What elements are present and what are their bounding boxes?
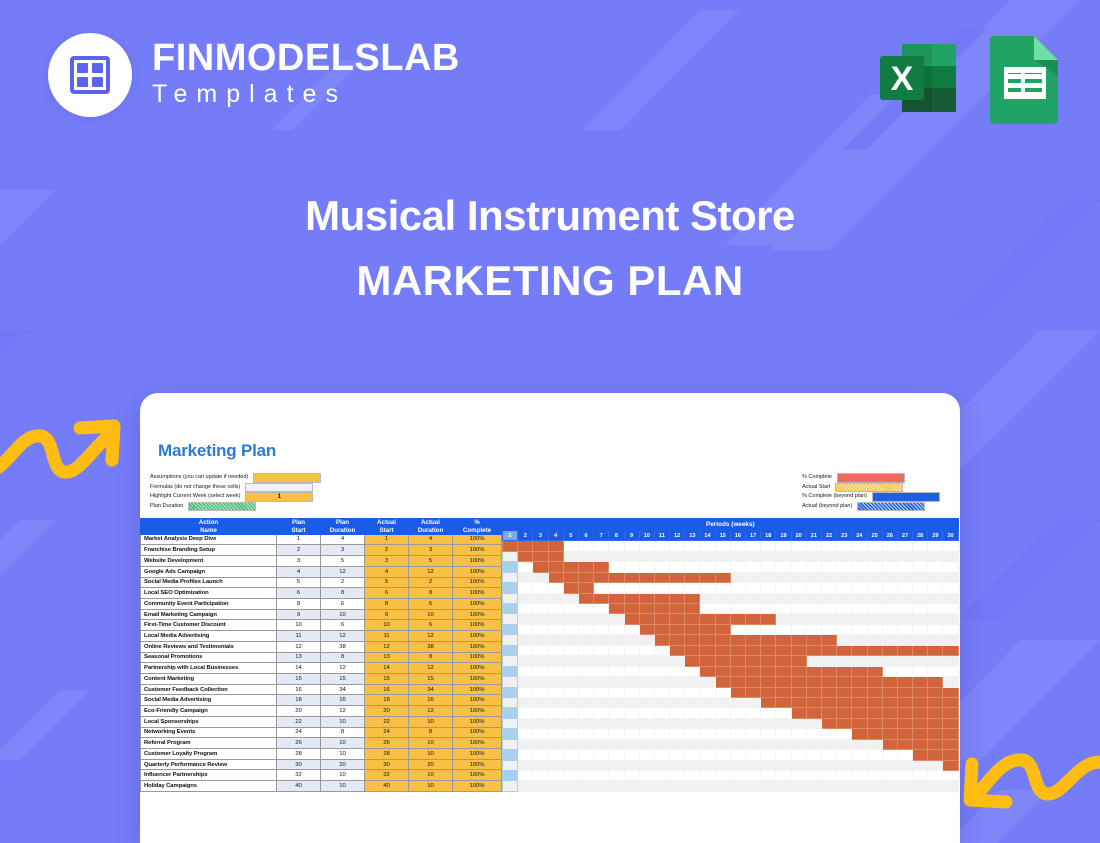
gantt-empty-cell [715,697,730,707]
gantt-row [503,551,959,561]
gantt-bar-segment [609,604,624,614]
table-row[interactable]: Local Sponsorships22102210100% [141,716,502,727]
cell-pct-complete[interactable]: 100% [453,770,502,781]
gantt-empty-cell [928,572,943,582]
cell-name[interactable]: Franchise Branding Setup [141,545,277,556]
week-header-9[interactable]: 9 [624,531,639,541]
cell-actual-start[interactable]: 10 [365,620,409,631]
cell-plan-duration[interactable]: 8 [321,727,365,738]
cell-plan-duration[interactable]: 10 [321,716,365,727]
week-header-21[interactable]: 21 [806,531,821,541]
gantt-empty-cell [654,771,669,781]
cell-name[interactable]: Community Event Participation [141,598,277,609]
cell-plan-duration[interactable]: 4 [321,534,365,545]
cell-actual-duration[interactable]: 10 [409,716,453,727]
cell-actual-start[interactable]: 22 [365,716,409,727]
cell-name[interactable]: Local Sponsorships [141,716,277,727]
cell-actual-duration[interactable]: 3 [409,545,453,556]
cell-plan-duration[interactable]: 12 [321,631,365,642]
gantt-empty-cell [578,750,593,760]
cell-actual-duration[interactable]: 5 [409,556,453,567]
cell-name[interactable]: Email Marketing Campaign [141,609,277,620]
cell-plan-start[interactable]: 26 [277,738,321,749]
gantt-empty-cell [578,541,593,551]
table-row[interactable]: Partnership with Local Businesses1412141… [141,663,502,674]
cell-actual-duration[interactable]: 6 [409,598,453,609]
cell-name[interactable]: Local SEO Optimization [141,588,277,599]
cell-pct-complete[interactable]: 100% [453,641,502,652]
cell-actual-start[interactable]: 18 [365,695,409,706]
cell-actual-duration[interactable]: 10 [409,609,453,620]
gantt-empty-cell [715,551,730,561]
cell-plan-duration[interactable]: 8 [321,652,365,663]
cell-pct-complete[interactable]: 100% [453,695,502,706]
gantt-empty-cell [837,750,852,760]
week-header-4[interactable]: 4 [548,531,563,541]
cell-plan-duration[interactable]: 15 [321,673,365,684]
cell-name[interactable]: Eco-Friendly Campaign [141,706,277,717]
cell-actual-start[interactable]: 1 [365,534,409,545]
week-header-22[interactable]: 22 [821,531,836,541]
week-header-15[interactable]: 15 [715,531,730,541]
gantt-empty-cell [928,562,943,572]
gantt-empty-cell [882,541,897,551]
gantt-empty-cell [578,687,593,697]
table-row[interactable]: Email Marketing Campaign910910100% [141,609,502,620]
cell-plan-duration[interactable]: 10 [321,770,365,781]
cell-actual-start[interactable]: 24 [365,727,409,738]
cell-pct-complete[interactable]: 100% [453,620,502,631]
cell-actual-duration[interactable]: 12 [409,663,453,674]
week-header-25[interactable]: 25 [867,531,882,541]
cell-plan-duration[interactable]: 10 [321,738,365,749]
gantt-empty-cell [639,739,654,749]
week-header-30[interactable]: 30 [943,531,958,541]
gantt-empty-cell [594,729,609,739]
cell-pct-complete[interactable]: 100% [453,673,502,684]
table-row[interactable]: Influencer Partnerships32103210100% [141,770,502,781]
cell-plan-start[interactable]: 10 [277,620,321,631]
cell-pct-complete[interactable]: 100% [453,706,502,717]
cell-plan-duration[interactable]: 6 [321,620,365,631]
gantt-empty-cell [837,771,852,781]
cell-actual-duration[interactable]: 4 [409,534,453,545]
gantt-empty-cell [639,729,654,739]
legend-column-right: % CompleteActual Start% Complete (beyond… [802,473,940,511]
gantt-bar-segment [882,687,897,697]
gantt-empty-cell [867,572,882,582]
cell-name[interactable]: Customer Loyalty Program [141,749,277,760]
cell-name[interactable]: Content Marketing [141,673,277,684]
cell-name[interactable]: Networking Events [141,727,277,738]
gantt-empty-cell [791,604,806,614]
gantt-bar-segment [913,750,928,760]
cell-actual-duration[interactable]: 10 [409,770,453,781]
cell-plan-duration[interactable]: 20 [321,759,365,770]
gantt-empty-cell [897,562,912,572]
gantt-empty-cell [715,750,730,760]
cell-plan-duration[interactable]: 34 [321,684,365,695]
gantt-row [503,739,959,749]
cell-pct-complete[interactable]: 100% [453,588,502,599]
week-header-10[interactable]: 10 [639,531,654,541]
table-row[interactable]: Website Development3535100% [141,556,502,567]
gantt-bar-segment [670,645,685,655]
cell-plan-start[interactable]: 18 [277,695,321,706]
gantt-empty-cell [563,645,578,655]
week-header-18[interactable]: 18 [761,531,776,541]
cell-pct-complete[interactable]: 100% [453,781,502,792]
cell-actual-start[interactable]: 8 [365,598,409,609]
gantt-bar-segment [746,614,761,624]
cell-plan-start[interactable]: 9 [277,609,321,620]
gantt-empty-cell [518,677,533,687]
gantt-empty-cell [503,593,518,603]
gantt-empty-cell [624,708,639,718]
gantt-empty-cell [533,750,548,760]
cell-name[interactable]: First-Time Customer Discount [141,620,277,631]
gantt-bar-segment [852,677,867,687]
cell-name[interactable]: Social Media Profiles Launch [141,577,277,588]
cell-actual-duration[interactable]: 15 [409,673,453,684]
gantt-empty-cell [685,551,700,561]
cell-plan-duration[interactable]: 3 [321,545,365,556]
gantt-empty-cell [594,666,609,676]
gantt-empty-cell [654,739,669,749]
gantt-empty-cell [563,593,578,603]
gantt-empty-cell [867,593,882,603]
week-header-6[interactable]: 6 [578,531,593,541]
cell-name[interactable]: Market Analysis Deep Dive [141,534,277,545]
table-row[interactable]: Market Analysis Deep Dive1414100% [141,534,502,545]
legend-column-left: Assumptions (you can update if needed)Fo… [150,473,321,511]
cell-name[interactable]: Website Development [141,556,277,567]
cell-actual-duration[interactable]: 20 [409,759,453,770]
week-header-3[interactable]: 3 [533,531,548,541]
cell-plan-start[interactable]: 20 [277,706,321,717]
cell-plan-start[interactable]: 14 [277,663,321,674]
legend-item: Assumptions (you can update if needed) [150,473,321,483]
gantt-empty-cell [730,750,745,760]
gantt-bar-segment [776,677,791,687]
gantt-empty-cell [821,583,836,593]
cell-pct-complete[interactable]: 100% [453,652,502,663]
week-header-24[interactable]: 24 [852,531,867,541]
legend-item-value[interactable]: 1 [246,493,312,501]
gantt-empty-cell [624,729,639,739]
gantt-empty-cell [503,750,518,760]
gantt-empty-cell [670,687,685,697]
cell-plan-start[interactable]: 22 [277,716,321,727]
column-header[interactable]: ActualDuration [409,519,453,534]
gantt-empty-cell [533,771,548,781]
cell-plan-start[interactable]: 13 [277,652,321,663]
cell-actual-duration[interactable]: 12 [409,631,453,642]
gantt-bar-segment [791,708,806,718]
table-row[interactable]: Customer Feedback Collection16341634100% [141,684,502,695]
cell-plan-duration[interactable]: 12 [321,566,365,577]
gantt-empty-cell [670,729,685,739]
gantt-bar-segment [624,572,639,582]
gantt-bar-segment [943,739,958,749]
cell-plan-start[interactable]: 2 [277,545,321,556]
cell-pct-complete[interactable]: 100% [453,577,502,588]
week-header-12[interactable]: 12 [670,531,685,541]
table-row[interactable]: Holiday Campaigns40104010100% [141,781,502,792]
cell-actual-duration[interactable]: 6 [409,620,453,631]
cell-plan-start[interactable]: 32 [277,770,321,781]
column-header[interactable]: ActualStart [365,519,409,534]
table-row[interactable]: First-Time Customer Discount106106100% [141,620,502,631]
week-header-26[interactable]: 26 [882,531,897,541]
gantt-empty-cell [624,687,639,697]
column-header[interactable]: PlanDuration [321,519,365,534]
cell-name[interactable]: Online Reviews and Testimonials [141,641,277,652]
cell-actual-duration[interactable]: 10 [409,749,453,760]
cell-name[interactable]: Google Ads Campaign [141,566,277,577]
week-header-23[interactable]: 23 [837,531,852,541]
cell-name[interactable]: Social Media Advertising [141,695,277,706]
cell-actual-start[interactable]: 26 [365,738,409,749]
cell-plan-duration[interactable]: 16 [321,695,365,706]
cell-actual-duration[interactable]: 12 [409,706,453,717]
cell-pct-complete[interactable]: 100% [453,738,502,749]
gantt-bar-segment [730,677,745,687]
cell-name[interactable]: Holiday Campaigns [141,781,277,792]
gantt-bar-segment [776,666,791,676]
cell-name[interactable]: Referral Program [141,738,277,749]
column-header[interactable]: %Complete [453,519,502,534]
cell-plan-start[interactable]: 15 [277,673,321,684]
table-row[interactable]: Social Media Profiles Launch5252100% [141,577,502,588]
week-header-13[interactable]: 13 [685,531,700,541]
cell-pct-complete[interactable]: 100% [453,749,502,760]
column-header[interactable]: ActionName [141,519,277,534]
gantt-bar-segment [624,604,639,614]
gantt-empty-cell [578,677,593,687]
cell-plan-duration[interactable]: 6 [321,598,365,609]
cell-pct-complete[interactable]: 100% [453,566,502,577]
week-header-17[interactable]: 17 [746,531,761,541]
cell-pct-complete[interactable]: 100% [453,684,502,695]
cell-actual-start[interactable]: 15 [365,673,409,684]
gantt-bar-segment [806,697,821,707]
gantt-bar-segment [654,614,669,624]
gantt-empty-cell [776,572,791,582]
gantt-bar-segment [852,687,867,697]
gantt-empty-cell [548,687,563,697]
gantt-empty-cell [654,656,669,666]
cell-name[interactable]: Customer Feedback Collection [141,684,277,695]
cell-plan-duration[interactable]: 2 [321,577,365,588]
week-header-5[interactable]: 5 [563,531,578,541]
cell-actual-start[interactable]: 28 [365,749,409,760]
gantt-empty-cell [518,656,533,666]
cell-actual-duration[interactable]: 12 [409,566,453,577]
cell-pct-complete[interactable]: 100% [453,609,502,620]
gantt-bar-segment [685,624,700,634]
cell-actual-start[interactable]: 5 [365,577,409,588]
cell-actual-start[interactable]: 4 [365,566,409,577]
table-row[interactable]: Google Ads Campaign412412100% [141,566,502,577]
cell-plan-start[interactable]: 3 [277,556,321,567]
cell-actual-start[interactable]: 3 [365,556,409,567]
week-header-8[interactable]: 8 [609,531,624,541]
gantt-empty-cell [685,708,700,718]
cell-name[interactable]: Influencer Partnerships [141,770,277,781]
cell-actual-start[interactable]: 9 [365,609,409,620]
cell-pct-complete[interactable]: 100% [453,598,502,609]
gantt-empty-cell [821,551,836,561]
gantt-bar-segment [715,656,730,666]
legend-item-swatch [835,483,903,493]
cell-plan-start[interactable]: 16 [277,684,321,695]
gantt-empty-cell [821,739,836,749]
gantt-empty-cell [578,604,593,614]
cell-plan-start[interactable]: 6 [277,588,321,599]
cell-plan-start[interactable]: 11 [277,631,321,642]
table-row[interactable]: Franchise Branding Setup2323100% [141,545,502,556]
cell-actual-duration[interactable]: 8 [409,652,453,663]
table-row[interactable]: Local SEO Optimization6868100% [141,588,502,599]
cell-actual-start[interactable]: 32 [365,770,409,781]
cell-plan-start[interactable]: 1 [277,534,321,545]
gantt-bar-segment [897,687,912,697]
gantt-empty-cell [882,624,897,634]
table-row[interactable]: Eco-Friendly Campaign20122012100% [141,706,502,717]
table-row[interactable]: Social Media Advertising18161816100% [141,695,502,706]
gantt-bar-segment [700,614,715,624]
cell-plan-start[interactable]: 12 [277,641,321,652]
cell-pct-complete[interactable]: 100% [453,759,502,770]
cell-plan-duration[interactable]: 10 [321,609,365,620]
cell-plan-start[interactable]: 28 [277,749,321,760]
cell-plan-start[interactable]: 4 [277,566,321,577]
gantt-empty-cell [897,666,912,676]
gantt-empty-cell [882,635,897,645]
cell-actual-duration[interactable]: 16 [409,695,453,706]
cell-name[interactable]: Seasonal Promotions [141,652,277,663]
table-row[interactable]: Customer Loyalty Program28102810100% [141,749,502,760]
week-header-29[interactable]: 29 [928,531,943,541]
cell-pct-complete[interactable]: 100% [453,534,502,545]
gantt-empty-cell [852,583,867,593]
week-header-28[interactable]: 28 [913,531,928,541]
cell-actual-duration[interactable]: 10 [409,738,453,749]
cell-actual-duration[interactable]: 10 [409,781,453,792]
cell-actual-start[interactable]: 40 [365,781,409,792]
gantt-bar-segment [563,562,578,572]
gantt-empty-cell [867,583,882,593]
cell-actual-start[interactable]: 30 [365,759,409,770]
week-header-20[interactable]: 20 [791,531,806,541]
gantt-bar-segment [533,551,548,561]
cell-actual-duration[interactable]: 8 [409,588,453,599]
cell-name[interactable]: Quarterly Performance Review [141,759,277,770]
cell-actual-start[interactable]: 14 [365,663,409,674]
week-header-7[interactable]: 7 [594,531,609,541]
week-header-27[interactable]: 27 [897,531,912,541]
gantt-empty-cell [533,604,548,614]
cell-actual-start[interactable]: 2 [365,545,409,556]
table-row[interactable]: Quarterly Performance Review30203020100% [141,759,502,770]
cell-plan-duration[interactable]: 12 [321,663,365,674]
cell-plan-duration[interactable]: 5 [321,556,365,567]
cell-plan-start[interactable]: 40 [277,781,321,792]
cell-plan-duration[interactable]: 12 [321,706,365,717]
cell-actual-duration[interactable]: 38 [409,641,453,652]
cell-plan-start[interactable]: 30 [277,759,321,770]
gantt-bar-segment [685,604,700,614]
cell-plan-start[interactable]: 5 [277,577,321,588]
week-header-2[interactable]: 2 [518,531,533,541]
week-header-1[interactable]: 1 [503,531,518,541]
gantt-empty-cell [518,572,533,582]
gantt-empty-cell [730,583,745,593]
cell-plan-duration[interactable]: 10 [321,749,365,760]
legend-item-swatch [837,473,905,483]
cell-pct-complete[interactable]: 100% [453,545,502,556]
cell-name[interactable]: Partnership with Local Businesses [141,663,277,674]
week-header-19[interactable]: 19 [776,531,791,541]
table-row[interactable]: Networking Events248248100% [141,727,502,738]
table-row[interactable]: Referral Program26102610100% [141,738,502,749]
week-header-14[interactable]: 14 [700,531,715,541]
table-row[interactable]: Seasonal Promotions138138100% [141,652,502,663]
week-header-11[interactable]: 11 [654,531,669,541]
table-row[interactable]: Community Event Participation8686100% [141,598,502,609]
cell-pct-complete[interactable]: 100% [453,631,502,642]
cell-actual-start[interactable]: 12 [365,641,409,652]
gantt-bar-segment [761,635,776,645]
cell-pct-complete[interactable]: 100% [453,556,502,567]
cell-plan-start[interactable]: 24 [277,727,321,738]
cell-plan-duration[interactable]: 8 [321,588,365,599]
cell-actual-duration[interactable]: 2 [409,577,453,588]
table-row[interactable]: Local Media Advertising11121112100% [141,631,502,642]
gantt-empty-cell [852,760,867,770]
gantt-bar-segment [670,614,685,624]
cell-actual-duration[interactable]: 34 [409,684,453,695]
week-header-16[interactable]: 16 [730,531,745,541]
gantt-empty-cell [639,583,654,593]
cell-actual-start[interactable]: 11 [365,631,409,642]
cell-actual-start[interactable]: 6 [365,588,409,599]
cell-actual-start[interactable]: 16 [365,684,409,695]
table-row[interactable]: Online Reviews and Testimonials123812381… [141,641,502,652]
cell-name[interactable]: Local Media Advertising [141,631,277,642]
cell-actual-duration[interactable]: 8 [409,727,453,738]
gantt-bar-segment [639,572,654,582]
cell-plan-duration[interactable]: 10 [321,781,365,792]
gantt-empty-cell [503,687,518,697]
column-header[interactable]: PlanStart [277,519,321,534]
cell-plan-start[interactable]: 8 [277,598,321,609]
table-row[interactable]: Content Marketing15151515100% [141,673,502,684]
gantt-empty-cell [609,729,624,739]
gantt-bar-segment [882,729,897,739]
cell-plan-duration[interactable]: 38 [321,641,365,652]
gantt-empty-cell [670,656,685,666]
gantt-bar-segment [670,635,685,645]
cell-actual-start[interactable]: 20 [365,706,409,717]
legend-item-label: % Complete [802,473,837,483]
cell-pct-complete[interactable]: 100% [453,716,502,727]
cell-actual-start[interactable]: 13 [365,652,409,663]
gantt-empty-cell [685,750,700,760]
cell-pct-complete[interactable]: 100% [453,727,502,738]
cell-pct-complete[interactable]: 100% [453,663,502,674]
